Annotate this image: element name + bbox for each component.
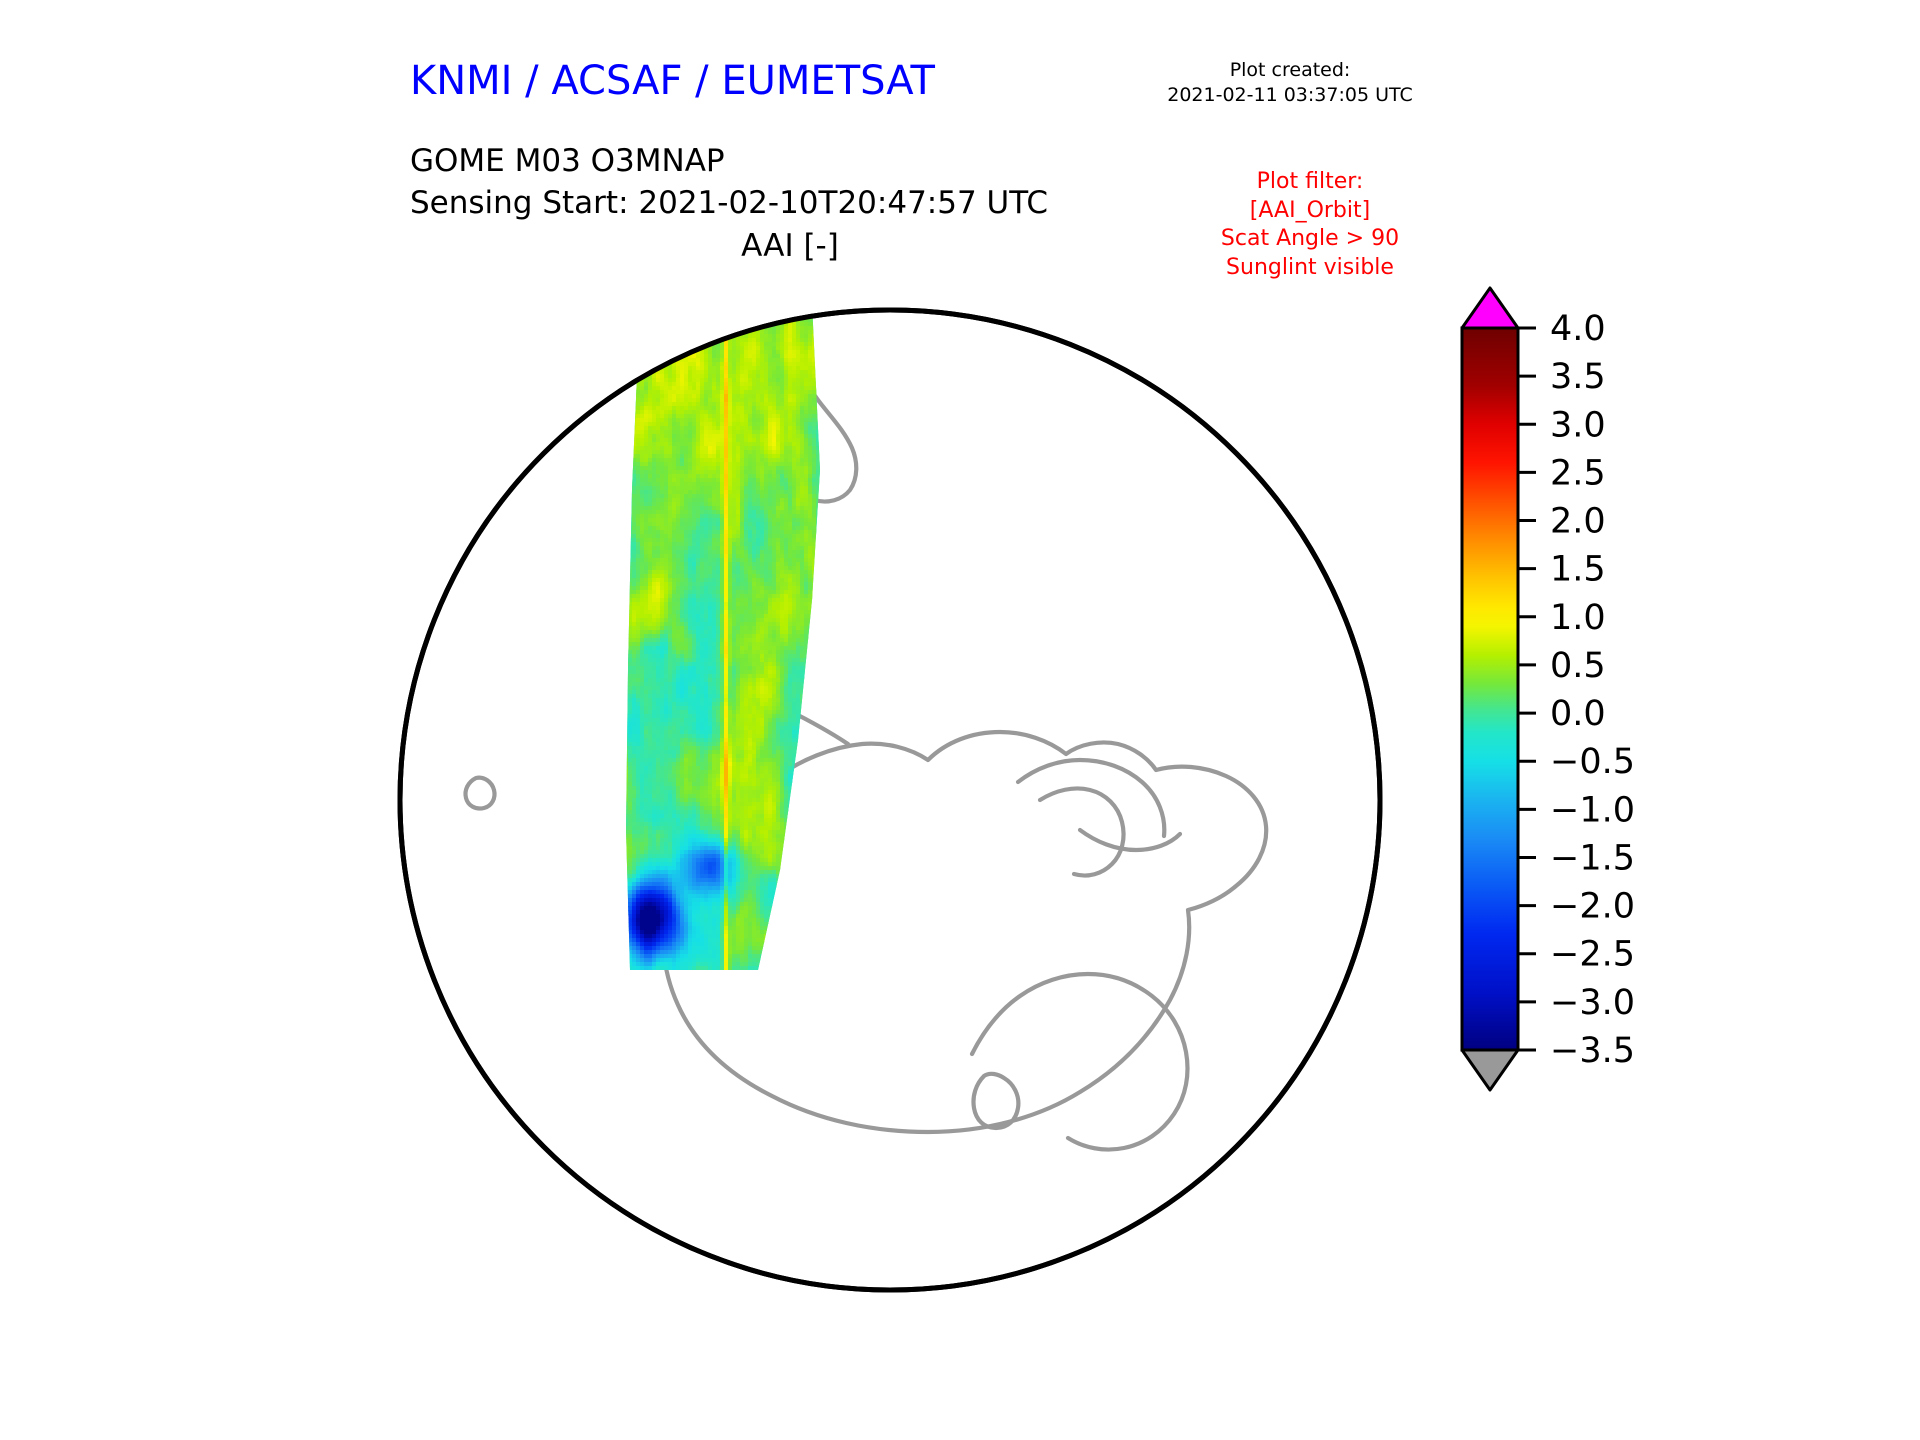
swath-pixel — [796, 374, 801, 379]
swath-pixel — [708, 582, 713, 587]
swath-pixel — [780, 366, 785, 371]
swath-pixel — [660, 554, 665, 559]
swath-pixel — [748, 306, 753, 311]
swath-pixel — [704, 442, 709, 447]
swath-pixel — [676, 490, 681, 495]
swath-pixel — [644, 482, 649, 487]
swath-pixel — [772, 442, 777, 447]
swath-pixel — [720, 418, 725, 423]
swath-pixel — [652, 410, 657, 415]
swath-pixel — [660, 394, 665, 399]
swath-pixel — [692, 558, 697, 563]
swath-pixel — [748, 410, 753, 415]
swath-pixel — [724, 538, 729, 543]
swath-pixel — [728, 354, 733, 359]
swath-pixel — [804, 522, 809, 527]
swath-pixel — [716, 386, 721, 391]
swath-pixel — [704, 562, 709, 567]
swath-pixel — [768, 538, 773, 543]
swath-pixel — [696, 394, 701, 399]
swath-pixel — [812, 522, 817, 527]
swath-pixel — [820, 270, 825, 275]
swath-pixel — [680, 270, 685, 271]
swath-pixel — [756, 434, 761, 439]
swath-pixel — [740, 458, 745, 463]
swath-pixel — [796, 534, 801, 539]
swath-pixel — [688, 490, 693, 495]
swath-pixel — [756, 570, 761, 575]
swath-pixel — [784, 270, 789, 271]
swath-pixel — [664, 490, 669, 495]
swath-pixel — [716, 350, 721, 355]
swath-pixel — [788, 270, 793, 275]
swath-pixel — [660, 326, 665, 331]
swath-pixel — [736, 338, 741, 343]
swath-pixel — [756, 350, 761, 355]
swath-pixel — [688, 394, 693, 399]
swath-pixel — [680, 282, 685, 287]
swath-pixel — [788, 574, 793, 579]
swath-pixel — [660, 274, 665, 279]
swath-pixel — [744, 514, 749, 519]
swath-pixel — [696, 462, 701, 467]
swath-pixel — [792, 294, 797, 299]
swath-pixel — [724, 410, 729, 415]
swath-pixel — [748, 358, 753, 363]
swath-pixel — [740, 366, 745, 371]
swath-pixel — [772, 406, 777, 411]
swath-pixel — [764, 510, 769, 515]
swath-pixel — [644, 510, 649, 515]
swath-pixel — [776, 538, 781, 543]
swath-pixel — [640, 498, 645, 503]
swath-pixel — [660, 502, 665, 507]
swath-pixel — [836, 270, 841, 271]
swath-pixel — [664, 394, 669, 399]
swath-pixel — [808, 390, 813, 395]
swath-pixel — [704, 402, 709, 407]
swath-pixel — [680, 398, 685, 403]
swath-pixel — [784, 462, 789, 467]
swath-pixel — [672, 430, 677, 435]
swath-pixel — [668, 298, 673, 303]
swath-pixel — [788, 350, 793, 355]
swath-pixel — [632, 362, 637, 367]
swath-pixel — [780, 434, 785, 439]
swath-pixel — [780, 502, 785, 507]
swath-pixel — [728, 450, 733, 455]
swath-pixel — [760, 522, 765, 527]
swath-pixel — [784, 326, 789, 331]
swath-pixel — [804, 310, 809, 315]
swath-pixel — [692, 446, 697, 451]
swath-pixel — [772, 522, 777, 527]
swath-pixel — [720, 322, 725, 327]
swath-pixel — [812, 494, 817, 499]
swath-pixel — [784, 486, 789, 491]
swath-pixel — [652, 446, 657, 451]
swath-pixel — [644, 558, 649, 563]
swath-pixel — [632, 490, 637, 495]
swath-pixel — [720, 310, 725, 315]
swath-pixel — [652, 318, 657, 323]
swath-pixel — [792, 290, 797, 295]
swath-pixel — [752, 494, 757, 499]
swath-pixel — [644, 398, 649, 403]
swath-pixel — [676, 418, 681, 423]
swath-pixel — [692, 354, 697, 359]
swath-pixel — [728, 534, 733, 539]
swath-pixel — [640, 582, 645, 587]
swath-pixel — [712, 310, 717, 315]
swath-pixel — [756, 390, 761, 395]
swath-pixel — [728, 430, 733, 435]
swath-pixel — [616, 338, 621, 343]
swath-pixel — [668, 554, 673, 559]
swath-pixel — [628, 330, 633, 335]
swath-pixel — [780, 422, 785, 427]
swath-pixel — [728, 494, 733, 499]
swath-pixel — [744, 550, 749, 555]
swath-pixel — [792, 366, 797, 371]
swath-pixel — [740, 490, 745, 495]
swath-pixel — [664, 482, 669, 487]
swath-pixel — [628, 354, 633, 359]
swath-pixel — [688, 574, 693, 579]
swath-pixel — [632, 498, 637, 503]
swath-pixel — [732, 374, 737, 379]
swath-pixel — [756, 466, 761, 471]
swath-pixel — [800, 330, 805, 335]
swath-pixel — [636, 290, 641, 295]
swath-pixel — [660, 570, 665, 575]
swath-pixel — [704, 290, 709, 295]
swath-pixel — [640, 458, 645, 463]
swath-pixel — [680, 406, 685, 411]
swath-pixel — [668, 354, 673, 359]
swath-pixel — [740, 318, 745, 323]
swath-pixel — [756, 338, 761, 343]
swath-pixel — [760, 306, 765, 311]
swath-pixel — [776, 482, 781, 487]
swath-pixel — [804, 438, 809, 443]
swath-pixel — [676, 342, 681, 347]
swath-pixel — [712, 394, 717, 399]
swath-pixel — [640, 346, 645, 351]
swath-pixel — [712, 498, 717, 503]
swath-pixel — [712, 294, 717, 299]
swath-pixel — [712, 286, 717, 291]
swath-pixel — [620, 362, 625, 367]
swath-pixel — [752, 278, 757, 283]
swath-pixel — [784, 502, 789, 507]
swath-pixel — [700, 282, 705, 287]
swath-pixel — [768, 446, 773, 451]
swath-pixel — [732, 474, 737, 479]
swath-pixel — [792, 362, 797, 367]
swath-pixel — [808, 334, 813, 339]
swath-pixel — [640, 486, 645, 491]
swath-pixel — [676, 482, 681, 487]
swath-pixel — [808, 566, 813, 571]
swath-pixel — [772, 526, 777, 531]
swath-pixel — [640, 478, 645, 483]
swath-pixel — [724, 270, 729, 271]
swath-pixel — [628, 342, 633, 347]
swath-pixel — [808, 394, 813, 399]
swath-pixel — [612, 358, 617, 363]
swath-pixel — [748, 366, 753, 371]
swath-pixel — [712, 570, 717, 575]
swath-pixel — [772, 574, 777, 579]
swath-pixel — [824, 294, 829, 299]
swath-pixel — [800, 270, 805, 275]
swath-pixel — [648, 494, 653, 499]
swath-pixel — [624, 274, 629, 279]
swath-pixel — [616, 318, 621, 323]
swath-pixel — [796, 558, 801, 563]
swath-pixel — [740, 550, 745, 555]
swath-pixel — [732, 410, 737, 415]
swath-pixel — [708, 506, 713, 511]
swath-pixel — [664, 550, 669, 555]
swath-pixel — [760, 518, 765, 523]
swath-pixel — [656, 530, 661, 535]
swath-pixel — [676, 442, 681, 447]
swath-pixel — [792, 542, 797, 547]
swath-pixel — [684, 454, 689, 459]
swath-pixel — [776, 562, 781, 567]
swath-pixel — [660, 374, 665, 379]
swath-pixel — [672, 482, 677, 487]
swath-pixel — [656, 558, 661, 563]
swath-pixel — [768, 274, 773, 279]
swath-pixel — [796, 582, 801, 587]
swath-pixel — [760, 446, 765, 451]
swath-pixel — [644, 494, 649, 499]
swath-pixel — [796, 330, 801, 335]
swath-pixel — [688, 370, 693, 375]
swath-pixel — [660, 546, 665, 551]
swath-pixel — [712, 482, 717, 487]
swath-pixel — [708, 378, 713, 383]
swath-pixel — [728, 454, 733, 459]
swath-pixel — [792, 342, 797, 347]
swath-pixel — [736, 426, 741, 431]
swath-pixel — [628, 298, 633, 303]
swath-pixel — [704, 486, 709, 491]
swath-pixel — [656, 510, 661, 515]
swath-pixel — [764, 274, 769, 279]
swath-pixel — [736, 270, 741, 275]
swath-pixel — [688, 522, 693, 527]
swath-pixel — [660, 386, 665, 391]
swath-pixel — [700, 530, 705, 535]
swath-pixel — [788, 570, 793, 575]
swath-pixel — [688, 462, 693, 467]
swath-pixel — [648, 358, 653, 363]
swath-pixel — [700, 402, 705, 407]
swath-pixel — [788, 366, 793, 371]
swath-pixel — [744, 506, 749, 511]
swath-pixel — [660, 390, 665, 395]
swath-pixel — [644, 406, 649, 411]
swath-pixel — [812, 526, 817, 531]
swath-pixel — [716, 534, 721, 539]
swath-pixel — [720, 410, 725, 415]
swath-pixel — [788, 482, 793, 487]
swath-pixel — [728, 418, 733, 423]
swath-pixel — [752, 294, 757, 299]
swath-pixel — [776, 342, 781, 347]
swath-pixel — [764, 282, 769, 287]
swath-pixel — [692, 306, 697, 311]
swath-pixel — [804, 454, 809, 459]
swath-pixel — [640, 510, 645, 515]
swath-pixel — [684, 538, 689, 543]
swath-pixel — [832, 274, 837, 279]
swath-pixel — [836, 294, 841, 299]
swath-pixel — [672, 302, 677, 307]
swath-pixel — [708, 478, 713, 483]
swath-pixel — [760, 390, 765, 395]
swath-pixel — [796, 298, 801, 303]
swath-pixel — [756, 554, 761, 559]
swath-pixel — [656, 506, 661, 511]
swath-pixel — [648, 498, 653, 503]
swath-pixel — [684, 462, 689, 467]
swath-pixel — [632, 482, 637, 487]
swath-pixel — [668, 546, 673, 551]
swath-pixel — [720, 566, 725, 571]
swath-pixel — [680, 470, 685, 475]
swath-pixel — [672, 410, 677, 415]
swath-pixel — [684, 486, 689, 491]
swath-pixel — [808, 454, 813, 459]
swath-pixel — [764, 458, 769, 463]
swath-pixel — [824, 306, 829, 311]
swath-pixel — [792, 386, 797, 391]
swath-pixel — [616, 354, 621, 359]
swath-pixel — [732, 558, 737, 563]
swath-pixel — [776, 454, 781, 459]
swath-pixel — [764, 374, 769, 379]
swath-pixel — [672, 326, 677, 331]
swath-pixel — [808, 350, 813, 355]
swath-pixel — [776, 442, 781, 447]
swath-pixel — [616, 366, 621, 371]
swath-pixel — [776, 310, 781, 315]
swath-pixel — [772, 290, 777, 295]
swath-pixel — [640, 418, 645, 423]
swath-pixel — [760, 530, 765, 535]
swath-pixel — [764, 462, 769, 467]
swath-pixel — [760, 310, 765, 315]
swath-pixel — [728, 470, 733, 475]
swath-pixel — [676, 406, 681, 411]
swath-pixel — [712, 454, 717, 459]
swath-pixel — [752, 378, 757, 383]
swath-pixel — [692, 494, 697, 499]
swath-pixel — [720, 406, 725, 411]
swath-pixel — [752, 338, 757, 343]
swath-pixel — [612, 282, 617, 287]
swath-pixel — [780, 438, 785, 443]
swath-pixel — [736, 430, 741, 435]
swath-pixel — [652, 322, 657, 327]
swath-pixel — [700, 510, 705, 515]
swath-pixel — [768, 510, 773, 515]
swath-pixel — [808, 458, 813, 463]
swath-pixel — [724, 326, 729, 331]
swath-pixel — [768, 526, 773, 531]
swath-pixel — [760, 570, 765, 575]
swath-pixel — [764, 522, 769, 527]
swath-pixel — [660, 426, 665, 431]
swath-pixel — [808, 398, 813, 403]
swath-pixel — [732, 386, 737, 391]
swath-pixel — [800, 502, 805, 507]
swath-pixel — [736, 570, 741, 575]
swath-pixel — [780, 330, 785, 335]
swath-pixel — [816, 278, 821, 283]
swath-pixel — [656, 290, 661, 295]
swath-pixel — [740, 486, 745, 491]
swath-pixel — [784, 342, 789, 347]
swath-pixel — [648, 562, 653, 567]
swath-pixel — [764, 526, 769, 531]
polar-map — [380, 270, 1400, 1330]
swath-pixel — [788, 562, 793, 567]
swath-pixel — [756, 454, 761, 459]
swath-pixel — [652, 374, 657, 379]
swath-pixel — [612, 354, 617, 359]
swath-pixel — [796, 434, 801, 439]
swath-pixel — [688, 438, 693, 443]
swath-pixel — [624, 366, 629, 371]
swath-pixel — [792, 534, 797, 539]
swath-pixel — [724, 354, 729, 359]
swath-pixel — [736, 406, 741, 411]
swath-pixel — [660, 410, 665, 415]
swath-pixel — [704, 282, 709, 287]
swath-pixel — [704, 418, 709, 423]
swath-pixel — [812, 406, 817, 411]
swath-pixel — [672, 530, 677, 535]
swath-pixel — [660, 294, 665, 299]
swath-pixel — [632, 534, 637, 539]
swath-pixel — [672, 462, 677, 467]
swath-pixel — [720, 446, 725, 451]
swath-pixel — [812, 514, 817, 519]
swath-pixel — [756, 386, 761, 391]
swath-pixel — [768, 438, 773, 443]
swath-pixel — [664, 434, 669, 439]
swath-pixel — [684, 430, 689, 435]
swath-pixel — [792, 382, 797, 387]
swath-pixel — [796, 470, 801, 475]
swath-pixel — [776, 270, 781, 271]
swath-pixel — [636, 506, 641, 511]
swath-pixel — [732, 566, 737, 571]
swath-pixel — [664, 582, 669, 587]
swath-pixel — [768, 530, 773, 535]
swath-pixel — [788, 286, 793, 291]
swath-pixel — [668, 386, 673, 391]
swath-pixel — [652, 450, 657, 455]
swath-pixel — [636, 426, 641, 431]
swath-pixel — [692, 398, 697, 403]
